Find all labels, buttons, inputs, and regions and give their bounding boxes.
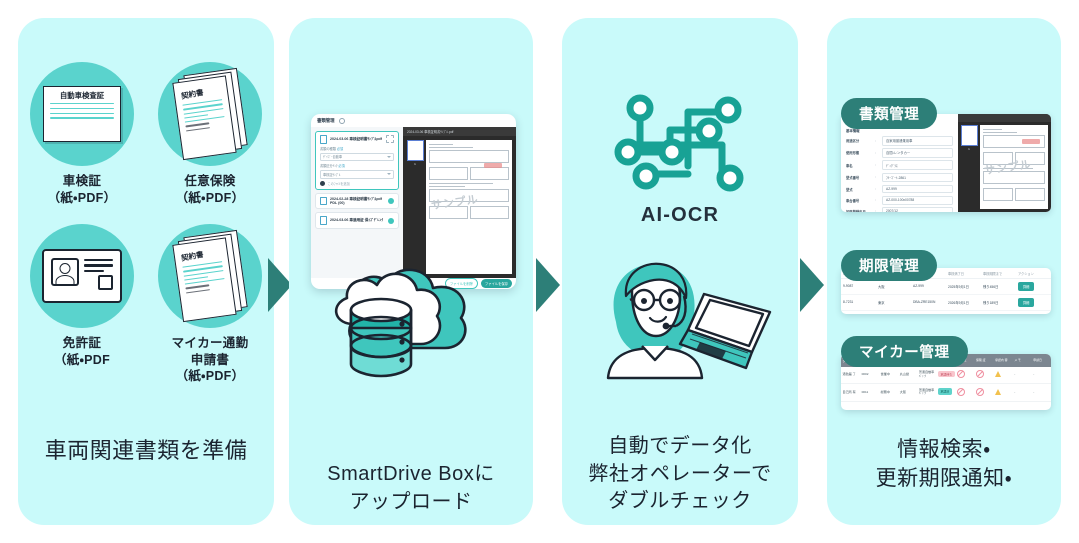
column-header-approval: 承認内 容 (994, 354, 1013, 367)
form-colon: : (875, 209, 879, 212)
panel-ai-ocr: AI-OCR (562, 18, 798, 525)
column-header: アクション (1016, 268, 1051, 279)
contract-line (186, 127, 210, 132)
document-label: 車検証 （紙・PDF） (48, 173, 117, 206)
form-key: 車名 (846, 163, 872, 168)
ban-icon (957, 370, 965, 378)
status-dot-icon (388, 198, 394, 204)
certificate-title: 自動車検査証 (50, 92, 114, 99)
file-row: 2024-03-06 車検証明書ｻﾝﾌﾟﾙpdf (320, 135, 394, 144)
pdf-page-thumbnail[interactable] (407, 140, 424, 161)
form-colon: : (875, 175, 879, 179)
panel-prepare-documents: 自動車検査証 車検証 （紙・PDF） (18, 18, 274, 525)
cell-employee-no: 0002 (860, 367, 879, 384)
cell-vehicle: 普通自動車ﾊﾞﾝ ｸ (917, 367, 936, 384)
table-row[interactable]: 通勤届 了 0002 営業中 丸山健 普通自動車ﾊﾞﾝ ｸ 承認待ち - - (841, 367, 1051, 384)
warning-icon (995, 389, 1001, 395)
cell-status: 通勤届 了 (841, 367, 860, 384)
card-pill-document-management: 書類管理 (841, 98, 937, 129)
contract-line (186, 289, 210, 294)
form-colon: : (875, 187, 879, 191)
form-colon: : (875, 163, 879, 167)
form-row: 初度登録年月 : 2007/12 (846, 207, 953, 212)
panel-upload-to-box: 書類管理 2024-03-06 車検証明書ｻﾝﾌﾟﾙpdf 書類の種類 必須 (289, 18, 533, 525)
cell-inspection-icon (955, 384, 974, 401)
file-name: 2024-02-28 車検証明書ｻﾝﾌﾟﾙpdf PDL (00) (330, 197, 385, 206)
vehicle-inspection-certificate-icon: 自動車検査証 (43, 86, 121, 142)
form-key: 使用形態 (846, 150, 872, 155)
form-colon: : (875, 151, 879, 155)
form-key: 用途区分 (846, 138, 872, 143)
file-row: 2024-02-28 車検証明書ｻﾝﾌﾟﾙpdf PDL (00) (320, 197, 394, 206)
table-row[interactable]: 8-7231 東京 DBA-ZRE150N 2026年9月1日 残り189日 詳… (841, 294, 1051, 310)
cell-approval-icon (994, 367, 1013, 384)
certificate-rule (50, 117, 114, 119)
icon-circle: 契約書 (158, 62, 262, 166)
column-header: 車検期限まで (981, 268, 1016, 279)
document-type-select[interactable]: ｻﾞｲｺﾞｰ自動車 (320, 153, 394, 162)
document-item-voluntary-insurance: 契約書 任意保険 （紙・PDF） (146, 62, 274, 206)
license-photo-icon (51, 258, 79, 286)
ai-ocr-label: AI-OCR (641, 204, 719, 227)
form-key: 型式 (846, 187, 872, 192)
column-header-memo: メ モ (1013, 354, 1032, 367)
pdf-body: 1 サンプル (958, 122, 1051, 212)
form-row: 車名 : ﾃﾞｨｸﾞﾗｽ (846, 160, 953, 170)
column-header-insurance: 保険 証 (975, 354, 994, 367)
form-colon: : (875, 198, 879, 202)
table-row[interactable]: 自己所 有 0011 総務中 大阪 普通自動車ﾊﾞﾝ ｸ 承認済 - - (841, 384, 1051, 401)
form-row: 型式 : AZ-999 (846, 185, 953, 194)
cell-department: 営業中 (879, 367, 898, 384)
screenshot-header-title: 書類管理 (317, 118, 335, 124)
document-category-select[interactable]: 車検証ｻﾝﾌﾟﾙ (320, 170, 394, 179)
cell-action: 詳細 (1016, 279, 1051, 295)
cell-name: 大阪 (898, 384, 917, 401)
status-badge: 承認済 (938, 388, 952, 395)
certificate-rule (50, 108, 114, 110)
stack-sheet-front: 契約書 (172, 237, 236, 322)
select-value: ｻﾞｲｺﾞｰ自動車 (323, 154, 342, 159)
cell-employee-no: 0011 (860, 384, 879, 401)
ban-icon (976, 370, 984, 378)
document-label: 免許証 （紙・PDF (54, 335, 110, 368)
license-text-lines (84, 258, 113, 294)
pdf-page-thumbnail[interactable] (961, 125, 978, 146)
ban-icon (957, 388, 965, 396)
form-row: 車台番号 : AZ-000-100x00788 (846, 196, 953, 205)
file-name: 2024-03-06 車適用証 保ｲｽﾞﾃﾞLﾝｸ (330, 218, 385, 222)
screenshot-header: 書類管理 (311, 114, 516, 127)
cell-days-left: 残り189日 (981, 294, 1016, 310)
form-key: 型式番号 (846, 175, 872, 180)
form-row: 型式番号 : ﾌﾘｰｺﾞｰﾄ-2861 (846, 173, 953, 183)
cell-expiry-date: 2025年9月1日 (946, 279, 981, 295)
arrow-3-to-4 (800, 258, 824, 312)
document-label: 任意保険 （紙・PDF） (176, 173, 245, 206)
cell-days-left: 残り456日 (981, 279, 1016, 295)
field-label: 書類区分ﾘﾝｸ 必須 (320, 163, 394, 168)
file-row: 2024-03-06 車適用証 保ｲｽﾞﾃﾞLﾝｸ (320, 216, 394, 225)
operator-with-laptop-icon (580, 256, 780, 381)
panel-caption-ocr: 自動でデータ化 弊社オペレーターで ダブルチェック (562, 433, 798, 516)
cell-inspection-icon (955, 367, 974, 384)
form-value[interactable]: 自間・レンタカー (882, 148, 953, 158)
red-stamp-icon (1022, 139, 1040, 144)
form-value[interactable]: ﾌﾘｰｺﾞｰﾄ-2861 (882, 173, 953, 183)
ai-network-nodes-icon (610, 90, 750, 200)
drivers-license-card-icon (42, 249, 122, 303)
icon-circle (30, 224, 134, 328)
cell-insurance-icon (975, 384, 994, 401)
license-chip-icon (98, 275, 113, 290)
red-stamp-icon (484, 163, 502, 168)
pdf-page-number: 1 (414, 162, 416, 166)
column-header: 車検満了日 (946, 268, 981, 279)
document-grid: 自動車検査証 車検証 （紙・PDF） (18, 62, 274, 385)
arrow-2-to-3 (536, 258, 560, 312)
pdf-toolbar[interactable] (958, 114, 1051, 122)
form-value[interactable]: AZ-999 (882, 185, 953, 194)
cell-name: 丸山健 (898, 367, 917, 384)
detail-button[interactable]: 詳細 (1018, 282, 1034, 290)
pdf-file-icon (320, 135, 327, 144)
cell-apply-date: - (1032, 384, 1051, 401)
pdf-file-icon (320, 197, 327, 206)
cell-memo: - (1013, 367, 1032, 384)
cell-commute-tag: 承認待ち (936, 367, 955, 384)
document-pdf-viewer: 1 サンプル (958, 114, 1051, 212)
form-row: 使用形態 : 自間・レンタカー (846, 148, 953, 158)
panel-caption-upload: SmartDrive Boxに アップロード (289, 461, 533, 516)
form-value[interactable]: 自家用普通乗用車 (882, 136, 953, 146)
file-card[interactable]: 2024-02-28 車検証明書ｻﾝﾌﾟﾙpdf PDL (00) (315, 193, 399, 210)
form-colon: : (875, 139, 879, 143)
plus-icon (320, 181, 325, 186)
cell-vehicle: 普通自動車ﾊﾞﾝ ｸ (917, 384, 936, 401)
file-card-selected[interactable]: 2024-03-06 車検証明書ｻﾝﾌﾟﾙpdf 書類の種類 必須 ｻﾞｲｺﾞｰ… (315, 131, 399, 190)
column-header-apply-date: 申請日 (1032, 354, 1051, 367)
pdf-file-icon (320, 216, 327, 225)
panel-caption-prepare: 車両関連書類を準備 (18, 436, 274, 466)
cell-approval-icon (994, 384, 1013, 401)
cell-model: DBA-ZRE150N (911, 294, 946, 310)
warning-icon (995, 371, 1001, 377)
cell-expiry-date: 2026年9月1日 (946, 294, 981, 310)
document-label: マイカー通勤 申請書 （紙・PDF） (172, 335, 249, 385)
expand-icon[interactable] (386, 135, 394, 143)
form-value[interactable]: ﾃﾞｨｸﾞﾗｽ (882, 160, 953, 170)
icon-circle: 契約書 (158, 224, 262, 328)
file-card[interactable]: 2024-03-06 車適用証 保ｲｽﾞﾃﾞLﾝｸ (315, 212, 399, 229)
document-item-drivers-license: 免許証 （紙・PDF (18, 224, 146, 385)
cell-apply-date: - (1032, 367, 1051, 384)
panel-search-and-notify: 書類管理 書類管理 2024年03月06日 まで有効 基本情報 用途区分 : 自… (827, 18, 1061, 525)
chevron-down-icon (387, 173, 391, 175)
status-dot-icon (388, 218, 394, 224)
chevron-down-icon (387, 156, 391, 158)
contract-stack-icon: 契約書 (171, 230, 248, 322)
add-file-label: このﾌｧｲﾙを追加 (328, 181, 350, 186)
panel-caption-search: 情報検索・ 更新期限通知・ (827, 436, 1061, 494)
document-item-commute-application: 契約書 マイカー通勤 申請書 （紙・PDF） (146, 224, 274, 385)
certificate-rule (50, 113, 114, 115)
form-row: 用途区分 : 自家用普通乗用車 (846, 136, 953, 146)
cell-vehicle-number: 8-7231 (841, 294, 876, 310)
card-pill-expiry-management: 期限管理 (841, 250, 937, 281)
ocr-block: AI-OCR (562, 90, 798, 227)
pdf-page-number: 1 (968, 147, 970, 151)
add-file-row[interactable]: このﾌｧｲﾙを追加 (320, 181, 394, 186)
form-value[interactable]: 2007/12 (882, 207, 953, 212)
cell-department: 総務中 (879, 384, 898, 401)
stack-sheet-front: 契約書 (172, 75, 236, 160)
form-key: 初度登録年月 (846, 209, 872, 212)
select-value: 車検証ｻﾝﾌﾟﾙ (323, 172, 341, 177)
certificate-rule (50, 103, 114, 105)
pdf-thumbnail-column[interactable]: 1 (961, 125, 977, 209)
cell-site-name: 東京 (876, 294, 911, 310)
pdf-page-preview: サンプル (980, 125, 1048, 209)
ban-icon (976, 388, 984, 396)
file-name: 2024-03-06 車検証明書ｻﾝﾌﾟﾙpdf (330, 137, 383, 141)
field-label: 書類の種類 必須 (320, 146, 394, 151)
viewer-filename: 2024-03-06 車検証明書ｻﾝﾌﾟﾙ.pdf (407, 129, 453, 134)
cell-insurance-icon (975, 367, 994, 384)
icon-circle: 自動車検査証 (30, 62, 134, 166)
contract-stack-icon: 契約書 (171, 68, 248, 160)
cell-action: 詳細 (1016, 294, 1051, 310)
card-pill-mycar-management: マイカー管理 (841, 336, 968, 367)
cloud-database-upload-icon (321, 252, 496, 380)
cell-commute-tag: 承認済 (936, 384, 955, 401)
form-key: 車台番号 (846, 198, 872, 203)
form-value[interactable]: AZ-000-100x00788 (882, 196, 953, 205)
cell-status: 自己所 有 (841, 384, 860, 401)
detail-button[interactable]: 詳細 (1018, 298, 1034, 306)
cell-memo: - (1013, 384, 1032, 401)
status-badge: 承認待ち (938, 371, 955, 378)
pdf-viewer-toolbar[interactable]: 2024-03-06 車検証明書ｻﾝﾌﾟﾙ.pdf (403, 127, 516, 136)
process-flow-diagram: 自動車検査証 車検証 （紙・PDF） (0, 0, 1079, 543)
document-item-vehicle-inspection: 自動車検査証 車検証 （紙・PDF） (18, 62, 146, 206)
info-icon (339, 118, 345, 124)
